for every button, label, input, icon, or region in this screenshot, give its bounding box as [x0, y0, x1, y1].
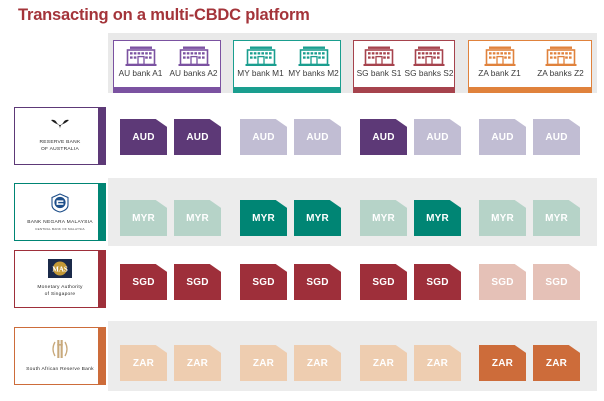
mas-logo: MAS — [48, 259, 72, 283]
token-sgd-au-banks-a2[interactable]: SGD — [174, 264, 221, 300]
token-myr-za-bank-z1[interactable]: MYR — [479, 200, 526, 236]
token-sgd-za-bank-z1[interactable]: SGD — [479, 264, 526, 300]
token-aud-au-banks-a2[interactable]: AUD — [174, 119, 221, 155]
token-aud-za-bank-z1[interactable]: AUD — [479, 119, 526, 155]
bank-header-sg-2[interactable]: SG banks S2 — [404, 41, 454, 78]
bank-header-au-1[interactable]: AU bank A1 — [114, 41, 167, 78]
token-myr-my-banks-m2[interactable]: MYR — [294, 200, 341, 236]
token-sgd-my-bank-m1[interactable]: SGD — [240, 264, 287, 300]
bank-icon — [362, 45, 396, 67]
bank-icon — [297, 45, 331, 67]
bank-header-au-2[interactable]: AU banks A2 — [167, 41, 220, 78]
central-bank-card-sgd[interactable]: MASMonetary Authorityof Singapore — [14, 250, 106, 308]
column-group-underline-my — [233, 88, 341, 93]
cbdc-matrix: AU bank A1AU banks A2MY bank M1MY banks … — [0, 33, 604, 401]
central-bank-card-myr[interactable]: BANK NEGARA MALAYSIACENTRAL BANK OF MALA… — [14, 183, 106, 241]
column-group-underline-au — [113, 88, 221, 93]
bank-header-za-1[interactable]: ZA bank Z1 — [469, 41, 530, 78]
token-zar-au-bank-a1[interactable]: ZAR — [120, 345, 167, 381]
token-myr-za-banks-z2[interactable]: MYR — [533, 200, 580, 236]
column-group-underline-sg — [353, 88, 455, 93]
bank-header-label: AU bank A1 — [119, 68, 163, 78]
bank-header-label: MY bank M1 — [237, 68, 283, 78]
bank-header-label: SG banks S2 — [405, 68, 454, 78]
sarb-logo — [49, 338, 71, 365]
token-zar-au-banks-a2[interactable]: ZAR — [174, 345, 221, 381]
token-zar-za-bank-z1[interactable]: ZAR — [479, 345, 526, 381]
token-aud-au-bank-a1[interactable]: AUD — [120, 119, 167, 155]
token-aud-za-banks-z2[interactable]: AUD — [533, 119, 580, 155]
token-myr-au-bank-a1[interactable]: MYR — [120, 200, 167, 236]
token-myr-au-banks-a2[interactable]: MYR — [174, 200, 221, 236]
token-sgd-my-banks-m2[interactable]: SGD — [294, 264, 341, 300]
column-group-au[interactable]: AU bank A1AU banks A2 — [113, 40, 221, 88]
central-bank-name-line2: of Singapore — [45, 292, 76, 299]
central-bank-name: South African Reserve Bank — [26, 367, 94, 374]
bank-header-label: ZA bank Z1 — [478, 68, 520, 78]
central-bank-name: Monetary Authority — [37, 285, 82, 292]
bank-header-my-1[interactable]: MY bank M1 — [234, 41, 287, 78]
bank-header-my-2[interactable]: MY banks M2 — [287, 41, 340, 78]
token-myr-sg-bank-s1[interactable]: MYR — [360, 200, 407, 236]
central-bank-subtitle: CENTRAL BANK OF MALAYSIA — [35, 227, 85, 231]
central-bank-card-zar[interactable]: South African Reserve Bank — [14, 327, 106, 385]
bank-header-za-2[interactable]: ZA banks Z2 — [530, 41, 591, 78]
column-group-underline-za — [468, 88, 592, 93]
bank-icon — [244, 45, 278, 67]
bank-icon — [177, 45, 211, 67]
bank-header-sg-1[interactable]: SG bank S1 — [354, 41, 404, 78]
token-sgd-za-banks-z2[interactable]: SGD — [533, 264, 580, 300]
bnm-logo — [50, 193, 70, 218]
rba-logo — [49, 118, 71, 138]
token-myr-sg-banks-s2[interactable]: MYR — [414, 200, 461, 236]
column-group-za[interactable]: ZA bank Z1ZA banks Z2 — [468, 40, 592, 88]
central-bank-name: BANK NEGARA MALAYSIA — [27, 220, 93, 227]
page-title: Transacting on a multi-CBDC platform — [18, 6, 310, 25]
svg-text:MAS: MAS — [52, 266, 68, 274]
bank-icon — [544, 45, 578, 67]
token-zar-sg-banks-s2[interactable]: ZAR — [414, 345, 461, 381]
token-zar-za-banks-z2[interactable]: ZAR — [533, 345, 580, 381]
token-aud-my-banks-m2[interactable]: AUD — [294, 119, 341, 155]
central-bank-card-aud[interactable]: RESERVE BANKOF AUSTRALIA — [14, 107, 106, 165]
bank-icon — [483, 45, 517, 67]
token-sgd-au-bank-a1[interactable]: SGD — [120, 264, 167, 300]
central-bank-accent-edge — [98, 251, 105, 307]
token-zar-my-banks-m2[interactable]: ZAR — [294, 345, 341, 381]
token-sgd-sg-bank-s1[interactable]: SGD — [360, 264, 407, 300]
token-myr-my-bank-m1[interactable]: MYR — [240, 200, 287, 236]
bank-icon — [124, 45, 158, 67]
token-zar-my-bank-m1[interactable]: ZAR — [240, 345, 287, 381]
bank-icon — [412, 45, 446, 67]
column-group-my[interactable]: MY bank M1MY banks M2 — [233, 40, 341, 88]
central-bank-name-line2: OF AUSTRALIA — [41, 147, 79, 154]
central-bank-name: RESERVE BANK — [40, 140, 81, 147]
central-bank-accent-edge — [98, 108, 105, 164]
central-bank-accent-edge — [98, 328, 105, 384]
token-zar-sg-bank-s1[interactable]: ZAR — [360, 345, 407, 381]
bank-header-label: SG bank S1 — [357, 68, 402, 78]
token-aud-sg-bank-s1[interactable]: AUD — [360, 119, 407, 155]
token-aud-my-bank-m1[interactable]: AUD — [240, 119, 287, 155]
column-group-sg[interactable]: SG bank S1SG banks S2 — [353, 40, 455, 88]
bank-header-label: AU banks A2 — [170, 68, 218, 78]
bank-header-label: ZA banks Z2 — [537, 68, 584, 78]
token-sgd-sg-banks-s2[interactable]: SGD — [414, 264, 461, 300]
bank-header-label: MY banks M2 — [288, 68, 339, 78]
central-bank-accent-edge — [98, 184, 105, 240]
token-aud-sg-banks-s2[interactable]: AUD — [414, 119, 461, 155]
